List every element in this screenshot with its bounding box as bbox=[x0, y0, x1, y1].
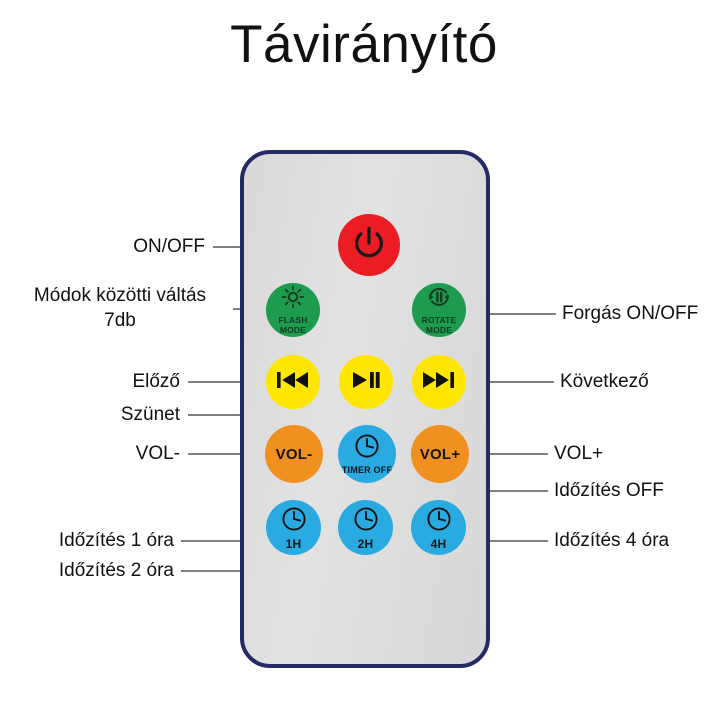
skip-previous-icon bbox=[275, 369, 311, 395]
callout-mode-switch: Módok közötti váltás 7db bbox=[10, 283, 230, 333]
callout-vol-up: VOL+ bbox=[554, 441, 603, 466]
timer-off-label: TIMER OFF bbox=[342, 466, 392, 475]
callout-vol-up-text: VOL+ bbox=[554, 443, 603, 464]
flash-mode-label: FLASH MODE bbox=[278, 316, 307, 335]
callout-timer-4h-text: Időzítés 4 óra bbox=[554, 530, 669, 551]
page-title: Távirányító bbox=[0, 14, 728, 75]
timer-4h-label: 4H bbox=[431, 538, 447, 550]
volume-up-button[interactable]: VOL+ bbox=[411, 425, 469, 483]
callout-mode-switch-line2: 7db bbox=[10, 308, 230, 333]
callout-pause: Szünet bbox=[0, 402, 180, 427]
screenshot-root: Távirányító bbox=[0, 0, 728, 728]
callout-previous-text: Előző bbox=[132, 371, 180, 392]
callout-on-off-text: ON/OFF bbox=[133, 236, 205, 257]
volume-down-button[interactable]: VOL- bbox=[265, 425, 323, 483]
callout-vol-down: VOL- bbox=[0, 441, 180, 466]
timer-1h-button[interactable]: 1H bbox=[266, 500, 321, 555]
next-button[interactable] bbox=[412, 355, 466, 409]
volume-down-label: VOL- bbox=[276, 447, 313, 462]
callout-pause-text: Szünet bbox=[121, 404, 180, 425]
callout-next-text: Következő bbox=[560, 371, 649, 392]
callout-timer-4h: Időzítés 4 óra bbox=[554, 528, 669, 553]
rotate-mode-button[interactable]: ROTATE MODE bbox=[412, 283, 466, 337]
clock-icon bbox=[353, 506, 379, 536]
callout-timer-2h: Időzítés 2 óra bbox=[0, 558, 174, 583]
callout-on-off: ON/OFF bbox=[0, 234, 205, 259]
clock-icon bbox=[281, 506, 307, 536]
callout-timer-1h: Időzítés 1 óra bbox=[0, 528, 174, 553]
rotate-mode-label: ROTATE MODE bbox=[422, 316, 457, 335]
power-icon bbox=[350, 224, 388, 266]
rotate-pause-icon bbox=[426, 285, 452, 313]
flash-mode-button[interactable]: FLASH MODE bbox=[266, 283, 320, 337]
timer-2h-button[interactable]: 2H bbox=[338, 500, 393, 555]
timer-off-button[interactable]: TIMER OFF bbox=[338, 425, 396, 483]
callout-rotate-on-off: Forgás ON/OFF bbox=[562, 301, 698, 326]
callout-rotate-on-off-text: Forgás ON/OFF bbox=[562, 303, 698, 324]
clock-icon bbox=[354, 433, 380, 463]
callout-previous: Előző bbox=[0, 369, 180, 394]
power-button[interactable] bbox=[338, 214, 400, 276]
callout-timer-2h-text: Időzítés 2 óra bbox=[59, 560, 174, 581]
skip-next-icon bbox=[421, 369, 457, 395]
previous-button[interactable] bbox=[266, 355, 320, 409]
callout-timer-off: Időzítés OFF bbox=[554, 478, 664, 503]
timer-4h-button[interactable]: 4H bbox=[411, 500, 466, 555]
brightness-icon bbox=[281, 285, 305, 313]
callout-timer-1h-text: Időzítés 1 óra bbox=[59, 530, 174, 551]
play-pause-button[interactable] bbox=[339, 355, 393, 409]
timer-1h-label: 1H bbox=[286, 538, 302, 550]
play-pause-icon bbox=[350, 369, 382, 395]
callout-vol-down-text: VOL- bbox=[136, 443, 180, 464]
timer-2h-label: 2H bbox=[358, 538, 374, 550]
volume-up-label: VOL+ bbox=[420, 447, 460, 462]
callout-next: Következő bbox=[560, 369, 649, 394]
callout-timer-off-text: Időzítés OFF bbox=[554, 480, 664, 501]
clock-icon bbox=[426, 506, 452, 536]
callout-mode-switch-line1: Módok közötti váltás bbox=[10, 283, 230, 308]
